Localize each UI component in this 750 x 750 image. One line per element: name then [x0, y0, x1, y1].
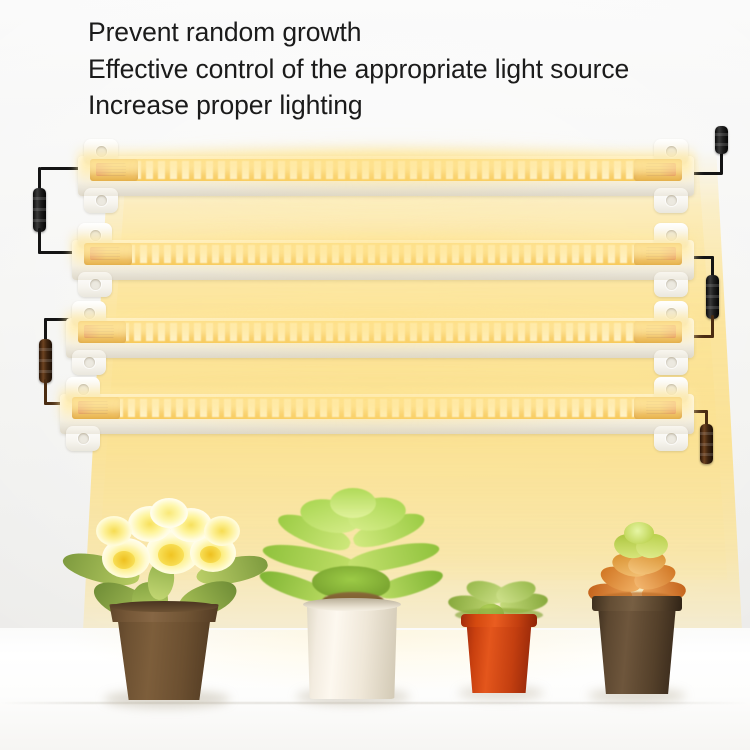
driver-cap-right: [634, 159, 682, 181]
pot-red-plastic: [464, 618, 534, 693]
driver-cap-right: [634, 321, 682, 343]
led-chips: [116, 399, 638, 417]
pot-cream-ceramic: [305, 603, 399, 699]
led-strip-4: [116, 397, 638, 419]
led-bar-4[interactable]: [60, 394, 694, 434]
led-bar-3[interactable]: [66, 318, 694, 358]
housing-shadow: [60, 420, 694, 434]
pot-red-rim: [461, 614, 537, 627]
led-strip-1: [134, 159, 638, 181]
pot-dark-square: [595, 600, 679, 694]
headline-line-1: Prevent random growth: [88, 14, 738, 51]
barrel-connector-left-top: [33, 188, 46, 232]
housing-shadow: [78, 182, 694, 196]
headline-block: Prevent random growth Effective control …: [88, 14, 738, 124]
driver-cap-right: [634, 243, 682, 265]
pot-dark-rim: [592, 596, 682, 611]
pot-cream-mouth: [303, 598, 401, 611]
led-chips: [128, 245, 638, 263]
housing-shadow: [66, 344, 694, 358]
driver-cap-left: [90, 159, 138, 181]
led-chips: [122, 323, 638, 341]
barrel-connector-right-mid: [706, 275, 719, 319]
headline-line-2: Effective control of the appropriate lig…: [88, 51, 738, 88]
pot-brown-mouth: [110, 601, 218, 612]
barrel-connector-left-bottom: [39, 339, 52, 383]
led-bar-1[interactable]: [78, 156, 694, 196]
driver-cap-right: [634, 397, 682, 419]
housing-shadow: [72, 266, 694, 280]
led-strip-3: [122, 321, 638, 343]
led-bar-2[interactable]: [72, 240, 694, 280]
led-strip-2: [128, 243, 638, 265]
driver-cap-left: [72, 397, 120, 419]
barrel-connector-bar1-right: [715, 126, 728, 154]
driver-cap-left: [84, 243, 132, 265]
product-image-scene: Prevent random growth Effective control …: [0, 0, 750, 750]
barrel-connector-bar4-right: [700, 424, 713, 464]
headline-line-3: Increase proper lighting: [88, 87, 738, 124]
led-chips: [134, 161, 638, 179]
driver-cap-left: [78, 321, 126, 343]
